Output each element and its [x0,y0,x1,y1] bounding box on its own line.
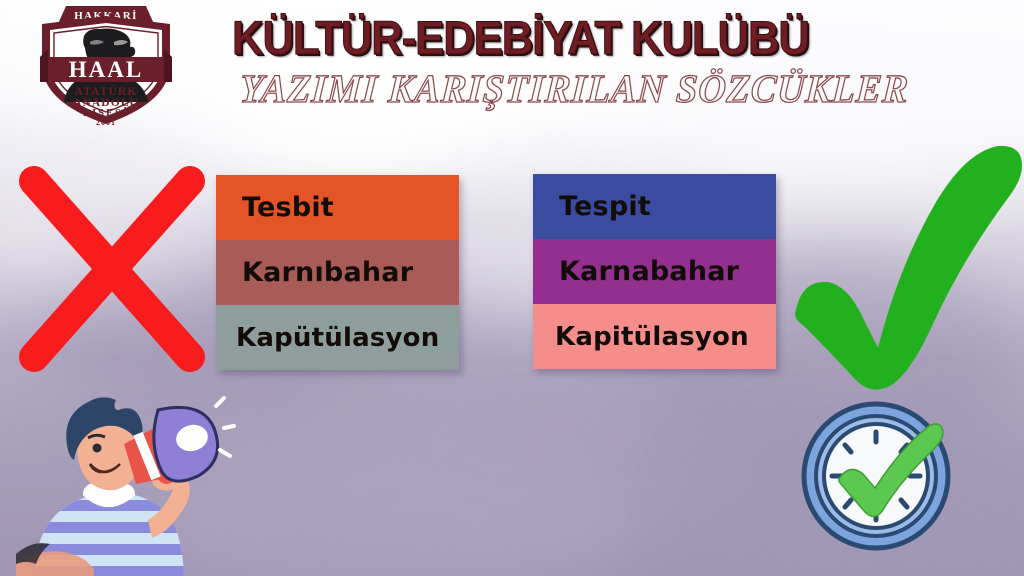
word-row: Karnabahar [533,239,776,304]
logo-center-band: HAAL [69,57,143,82]
eye [93,444,102,453]
logo-year: 2001 [96,118,116,127]
word-row: Tesbit [216,175,459,240]
incorrect-words-stack: Tesbit Karnıbahar Kapütülasyon [216,175,459,370]
word-row: Kapütülasyon [216,305,459,370]
person-with-megaphone-illustration [16,388,234,576]
logo-line-1: ATATÜRK [75,84,138,98]
word-label: Kapütülasyon [216,323,439,353]
word-row: Tespit [533,174,776,239]
word-label: Karnıbahar [216,257,413,288]
word-label: Kapitülasyon [533,322,749,352]
correct-words-stack: Tespit Karnabahar Kapitülasyon [533,174,776,369]
word-label: Tesbit [216,192,334,223]
school-logo: HAKKARİ HAAL ATATÜRK ANADOLU LİSESİ 2001 [22,2,190,128]
word-row: Kapitülasyon [533,304,776,369]
page-subtitle: YAZIMI KARIŞTIRILAN SÖZCÜKLER [238,66,830,112]
page-title: KÜLTÜR-EDEBİYAT KULÜBÜ [232,11,827,67]
slide-canvas: HAKKARİ HAAL ATATÜRK ANADOLU LİSESİ 2001 [0,0,1024,576]
word-label: Tespit [533,191,651,222]
clock-with-check-icon [795,392,957,554]
cross-mark-icon [14,163,210,375]
word-label: Karnabahar [533,256,739,287]
check-mark-icon [786,140,1024,395]
word-row: Karnıbahar [216,240,459,305]
